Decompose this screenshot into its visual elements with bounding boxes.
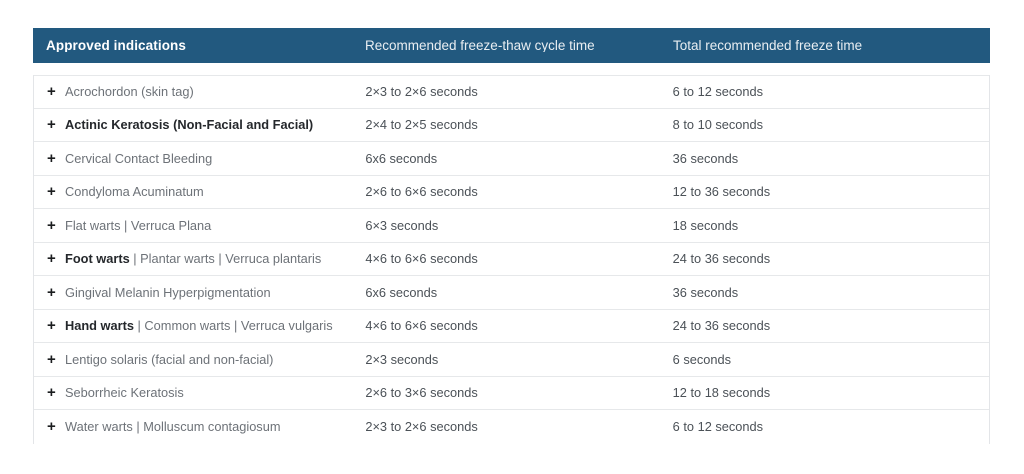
indication-label: Gingival Melanin Hyperpigmentation — [65, 285, 271, 300]
table-row[interactable]: +Flat warts | Verruca Plana6×3 seconds18… — [34, 209, 989, 243]
indication-label: Water warts | Molluscum contagiosum — [65, 419, 281, 434]
cell-freeze-thaw-cycle-time: 6x6 seconds — [365, 285, 672, 300]
plus-icon[interactable]: + — [47, 385, 62, 400]
cell-total-freeze-time: 6 to 12 seconds — [673, 419, 989, 434]
indication-synonyms: | Common warts | Verruca vulgaris — [134, 318, 333, 333]
cell-total-freeze-time: 18 seconds — [673, 218, 989, 233]
cell-approved-indication[interactable]: +Hand warts | Common warts | Verruca vul… — [34, 318, 365, 333]
indication-label: Acrochordon (skin tag) — [65, 84, 194, 99]
indication-primary-term: Actinic Keratosis (Non-Facial and Facial… — [65, 117, 313, 132]
table-row[interactable]: +Condyloma Acuminatum2×6 to 6×6 seconds1… — [34, 176, 989, 210]
cell-total-freeze-time: 24 to 36 seconds — [673, 251, 989, 266]
cell-total-freeze-time: 12 to 18 seconds — [673, 385, 989, 400]
indication-label: Foot warts | Plantar warts | Verruca pla… — [65, 251, 321, 266]
indication-synonyms: Cervical Contact Bleeding — [65, 151, 212, 166]
cell-freeze-thaw-cycle-time: 2×3 seconds — [365, 352, 672, 367]
cell-freeze-thaw-cycle-time: 2×4 to 2×5 seconds — [365, 117, 672, 132]
indication-label: Condyloma Acuminatum — [65, 184, 204, 199]
table-row[interactable]: +Hand warts | Common warts | Verruca vul… — [34, 310, 989, 344]
cell-approved-indication[interactable]: +Acrochordon (skin tag) — [34, 84, 365, 99]
cell-approved-indication[interactable]: +Actinic Keratosis (Non-Facial and Facia… — [34, 117, 365, 132]
table-row[interactable]: +Acrochordon (skin tag)2×3 to 2×6 second… — [34, 75, 989, 109]
cell-approved-indication[interactable]: +Condyloma Acuminatum — [34, 184, 365, 199]
cell-approved-indication[interactable]: +Lentigo solaris (facial and non-facial) — [34, 352, 365, 367]
indication-label: Seborrheic Keratosis — [65, 385, 184, 400]
table-row[interactable]: +Actinic Keratosis (Non-Facial and Facia… — [34, 109, 989, 143]
plus-icon[interactable]: + — [47, 184, 62, 199]
cell-freeze-thaw-cycle-time: 6x6 seconds — [365, 151, 672, 166]
indication-primary-term: Hand warts — [65, 318, 134, 333]
cell-total-freeze-time: 6 seconds — [673, 352, 989, 367]
cell-approved-indication[interactable]: +Seborrheic Keratosis — [34, 385, 365, 400]
indication-label: Actinic Keratosis (Non-Facial and Facial… — [65, 117, 313, 132]
table-row[interactable]: +Water warts | Molluscum contagiosum2×3 … — [34, 410, 989, 444]
table-row[interactable]: +Seborrheic Keratosis2×6 to 3×6 seconds1… — [34, 377, 989, 411]
indication-synonyms: Acrochordon (skin tag) — [65, 84, 194, 99]
indication-synonyms: Seborrheic Keratosis — [65, 385, 184, 400]
plus-icon[interactable]: + — [47, 251, 62, 266]
cell-total-freeze-time: 6 to 12 seconds — [673, 84, 989, 99]
cell-total-freeze-time: 24 to 36 seconds — [673, 318, 989, 333]
plus-icon[interactable]: + — [47, 285, 62, 300]
table-row[interactable]: +Cervical Contact Bleeding6x6 seconds36 … — [34, 142, 989, 176]
plus-icon[interactable]: + — [47, 318, 62, 333]
column-header-total-freeze-time: Total recommended freeze time — [673, 39, 990, 53]
column-header-freeze-thaw-cycle-time: Recommended freeze-thaw cycle time — [365, 39, 673, 53]
indication-synonyms: Flat warts | Verruca Plana — [65, 218, 211, 233]
cell-freeze-thaw-cycle-time: 2×3 to 2×6 seconds — [365, 419, 672, 434]
indication-label: Flat warts | Verruca Plana — [65, 218, 211, 233]
cell-freeze-thaw-cycle-time: 2×6 to 3×6 seconds — [365, 385, 672, 400]
cell-freeze-thaw-cycle-time: 2×3 to 2×6 seconds — [365, 84, 672, 99]
cell-approved-indication[interactable]: +Flat warts | Verruca Plana — [34, 218, 365, 233]
cell-freeze-thaw-cycle-time: 4×6 to 6×6 seconds — [365, 318, 672, 333]
table-row[interactable]: +Foot warts | Plantar warts | Verruca pl… — [34, 243, 989, 277]
cell-freeze-thaw-cycle-time: 6×3 seconds — [365, 218, 672, 233]
indication-primary-term: Foot warts — [65, 251, 130, 266]
indication-label: Lentigo solaris (facial and non-facial) — [65, 352, 273, 367]
plus-icon[interactable]: + — [47, 352, 62, 367]
cell-total-freeze-time: 36 seconds — [673, 285, 989, 300]
indication-synonyms: Condyloma Acuminatum — [65, 184, 204, 199]
indication-synonyms: Lentigo solaris (facial and non-facial) — [65, 352, 273, 367]
plus-icon[interactable]: + — [47, 84, 62, 99]
indication-label: Hand warts | Common warts | Verruca vulg… — [65, 318, 333, 333]
plus-icon[interactable]: + — [47, 151, 62, 166]
cell-approved-indication[interactable]: +Foot warts | Plantar warts | Verruca pl… — [34, 251, 365, 266]
cell-freeze-thaw-cycle-time: 2×6 to 6×6 seconds — [365, 184, 672, 199]
cell-approved-indication[interactable]: +Gingival Melanin Hyperpigmentation — [34, 285, 365, 300]
cell-approved-indication[interactable]: +Cervical Contact Bleeding — [34, 151, 365, 166]
table-header-row: Approved indications Recommended freeze-… — [33, 28, 990, 63]
cell-freeze-thaw-cycle-time: 4×6 to 6×6 seconds — [365, 251, 672, 266]
column-header-approved-indications: Approved indications — [33, 39, 365, 53]
indication-synonyms: | Plantar warts | Verruca plantaris — [130, 251, 322, 266]
cell-total-freeze-time: 12 to 36 seconds — [673, 184, 989, 199]
plus-icon[interactable]: + — [47, 419, 62, 434]
cell-approved-indication[interactable]: +Water warts | Molluscum contagiosum — [34, 419, 365, 434]
indication-synonyms: Water warts | Molluscum contagiosum — [65, 419, 281, 434]
approved-indications-table: Approved indications Recommended freeze-… — [33, 28, 990, 444]
plus-icon[interactable]: + — [47, 117, 62, 132]
indication-synonyms: Gingival Melanin Hyperpigmentation — [65, 285, 271, 300]
cell-total-freeze-time: 36 seconds — [673, 151, 989, 166]
indication-label: Cervical Contact Bleeding — [65, 151, 212, 166]
cell-total-freeze-time: 8 to 10 seconds — [673, 117, 989, 132]
table-row[interactable]: +Gingival Melanin Hyperpigmentation6x6 s… — [34, 276, 989, 310]
table-row[interactable]: +Lentigo solaris (facial and non-facial)… — [34, 343, 989, 377]
plus-icon[interactable]: + — [47, 218, 62, 233]
table-body: +Acrochordon (skin tag)2×3 to 2×6 second… — [33, 75, 990, 444]
